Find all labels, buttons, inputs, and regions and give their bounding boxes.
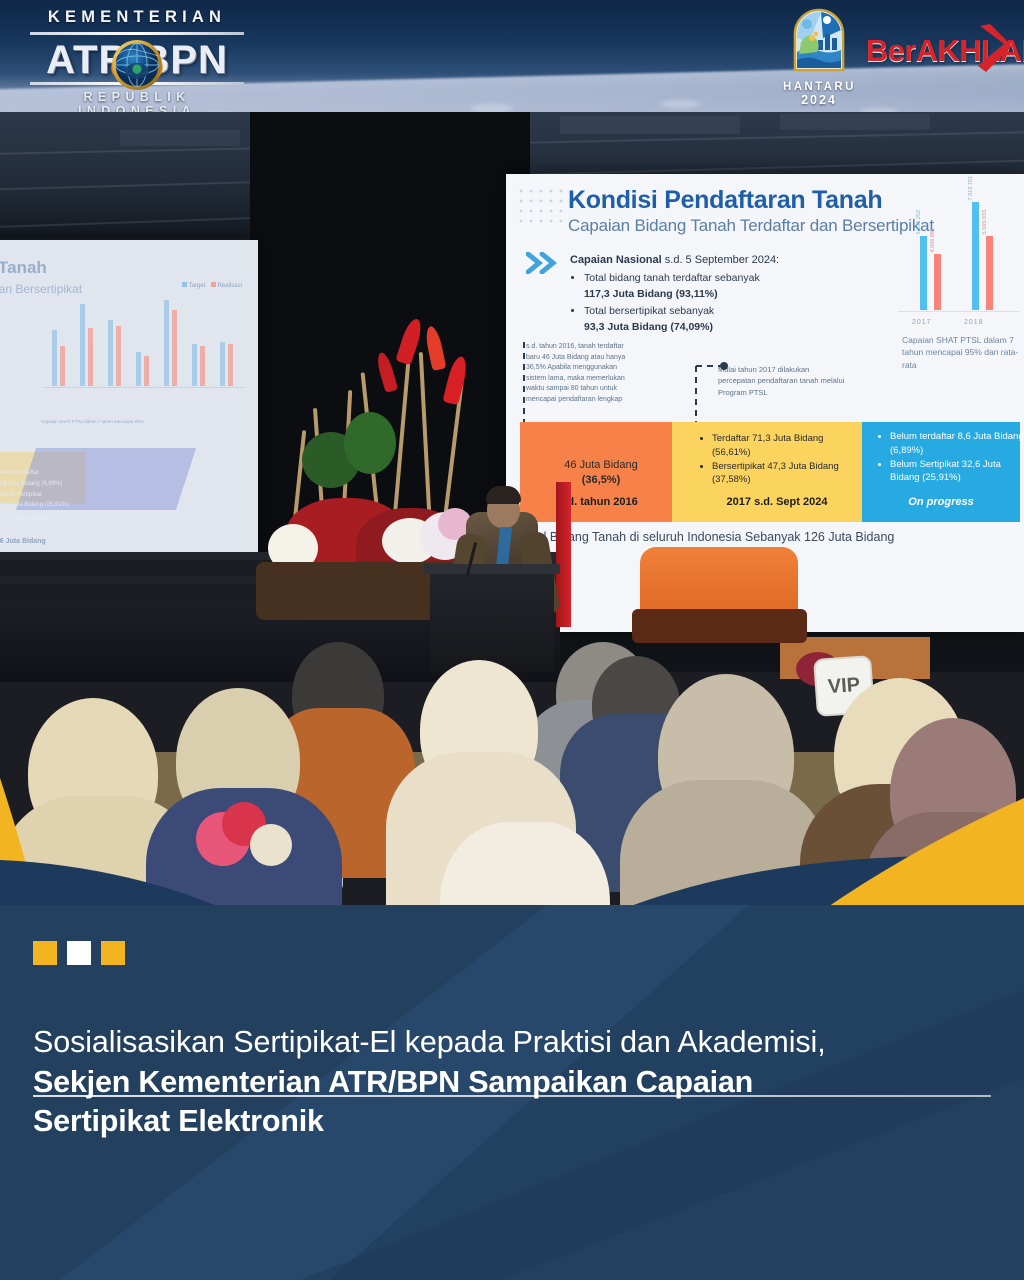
decorative-waves <box>0 752 1024 922</box>
left-slide-title: Tanah <box>0 258 47 278</box>
band-mid-label: 2017 s.d. Sept 2024 <box>682 496 872 508</box>
speaker-hair <box>486 486 521 503</box>
logo-berakhlak: BerAKHLAK <box>866 28 1012 74</box>
left-slide-barchart <box>44 290 244 400</box>
slide-barchart: 5.130.252 4.056.881 7.818.781 5.565.933 … <box>898 184 1020 334</box>
band-mid-text: Terdaftar 71,3 Juta Bidang (56,61%) Bers… <box>702 432 852 487</box>
logo-atr-bpn: KEMENTERIAN ATR BPN <box>22 6 252 110</box>
dot-grid-decoration <box>518 188 564 230</box>
social-media-poster: KEMENTERIAN ATR BPN <box>0 0 1024 1280</box>
hantaru-emblem-icon <box>791 8 847 74</box>
slide-lead: Capaian Nasional s.d. 5 September 2024: … <box>570 252 900 335</box>
headline-line-1: Sosialisasikan Sertipikat-El kepada Prak… <box>33 1023 993 1063</box>
poster-header: KEMENTERIAN ATR BPN <box>0 0 1024 118</box>
left-slide-band-text: Belum terdaftar8,6 Juta Bidang (6,89%)Be… <box>0 468 69 511</box>
double-chevron-icon <box>526 252 562 274</box>
left-slide-note: Capaian SHAT PTSL dalam 7 tahun mencapai… <box>41 418 256 432</box>
headline-line-3: Sertipikat Elektronik <box>33 1102 993 1142</box>
wordmark-rule-top <box>30 32 244 35</box>
ministry-kementerian-text: KEMENTERIAN <box>22 8 252 27</box>
slide-footer-text: Total Bidang Tanah di seluruh Indonesia … <box>520 530 1020 544</box>
event-photo: Tanah dan Bersertipikat Target Realisasi <box>0 112 1024 922</box>
globe-icon <box>110 38 164 92</box>
podium <box>430 567 554 672</box>
square-yellow-1 <box>33 941 57 965</box>
band-left-label: s.d. tahun 2016 <box>520 496 676 508</box>
vip-chair-base <box>632 609 807 643</box>
slide-note-mid: Mulai tahun 2017 dilakukan percepatan pe… <box>718 364 848 398</box>
hantaru-label: HANTARU <box>783 81 855 93</box>
footer-divider <box>33 1095 991 1097</box>
slide-title: Kondisi Pendaftaran Tanah <box>568 186 882 215</box>
slide-subtitle: Capaian Bidang Tanah Terdaftar dan Berse… <box>568 216 934 236</box>
hantaru-year: 2024 <box>783 93 855 107</box>
ministry-wordmark: ATR BPN <box>22 30 252 88</box>
decorative-squares <box>33 941 125 965</box>
slide-note-right: Capaian SHAT PTSL dalam 7 tahun mencapai… <box>902 334 1024 371</box>
header-dot <box>660 100 700 108</box>
poster-footer: Melayani, Profesional, Terpercaya @kem_a… <box>0 1218 1024 1268</box>
left-slide-footer: 126 Juta Bidang <box>0 538 46 545</box>
square-white <box>67 941 91 965</box>
logo-hantaru-2024: HANTARU 2024 <box>783 8 855 112</box>
headline-block: Sosialisasikan Sertipikat-El kepada Prak… <box>33 1023 993 1142</box>
chevron-swoosh-icon <box>974 22 1014 74</box>
band-right-label: On progress <box>862 496 1020 508</box>
square-yellow-2 <box>101 941 125 965</box>
left-slide-legend: Target Realisasi <box>182 282 242 289</box>
band-right-text: Belum terdaftar 8,6 Juta Bidang (6,89%) … <box>880 430 1024 485</box>
glasses-icon <box>488 502 519 509</box>
